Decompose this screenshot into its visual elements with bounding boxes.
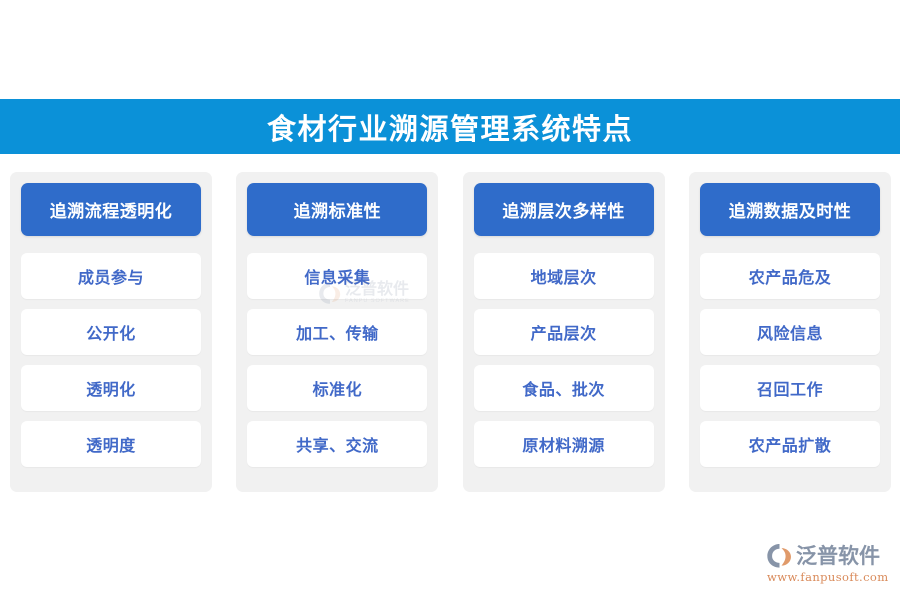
brand-url: www.fanpusoft.com xyxy=(767,570,889,584)
list-item[interactable]: 风险信息 xyxy=(700,309,880,355)
list-item[interactable]: 食品、批次 xyxy=(474,365,654,411)
fanpu-logo-icon xyxy=(766,542,793,569)
title-banner: 食材行业溯源管理系统特点 xyxy=(0,99,900,154)
column-header-2[interactable]: 追溯标准性 xyxy=(247,183,427,236)
column-traceability-standardization: 追溯标准性 信息采集 加工、传输 标准化 共享、交流 xyxy=(236,172,438,492)
item-label: 风险信息 xyxy=(757,320,823,344)
list-item[interactable]: 原材料溯源 xyxy=(474,421,654,467)
list-item[interactable]: 地域层次 xyxy=(474,253,654,299)
list-item[interactable]: 共享、交流 xyxy=(247,421,427,467)
item-label: 农产品危及 xyxy=(749,264,832,288)
page-title: 食材行业溯源管理系统特点 xyxy=(267,106,633,148)
list-item[interactable]: 公开化 xyxy=(21,309,201,355)
brand-logo-row: 泛普软件 xyxy=(766,541,880,569)
column-header-label-3: 追溯层次多样性 xyxy=(502,197,625,222)
brand-logo: 泛普软件 www.fanpusoft.com xyxy=(766,541,892,587)
item-label: 地域层次 xyxy=(531,264,597,288)
list-item[interactable]: 产品层次 xyxy=(474,309,654,355)
column-header-3[interactable]: 追溯层次多样性 xyxy=(474,183,654,236)
list-item[interactable]: 加工、传输 xyxy=(247,309,427,355)
item-label: 共享、交流 xyxy=(296,432,379,456)
column-header-1[interactable]: 追溯流程透明化 xyxy=(21,183,201,236)
item-label: 信息采集 xyxy=(304,264,370,288)
columns-container: 追溯流程透明化 成员参与 公开化 透明化 透明度 追溯标准性 信息采集 xyxy=(10,172,891,492)
column-traceability-process-transparency: 追溯流程透明化 成员参与 公开化 透明化 透明度 xyxy=(10,172,212,492)
column-header-label-1: 追溯流程透明化 xyxy=(50,197,173,222)
list-item[interactable]: 成员参与 xyxy=(21,253,201,299)
list-item[interactable]: 透明化 xyxy=(21,365,201,411)
list-item[interactable]: 信息采集 xyxy=(247,253,427,299)
item-label: 召回工作 xyxy=(757,376,823,400)
list-item[interactable]: 农产品危及 xyxy=(700,253,880,299)
column-header-label-2: 追溯标准性 xyxy=(294,197,382,222)
column-traceability-level-diversity: 追溯层次多样性 地域层次 产品层次 食品、批次 原材料溯源 xyxy=(463,172,665,492)
item-label: 加工、传输 xyxy=(296,320,379,344)
list-item[interactable]: 标准化 xyxy=(247,365,427,411)
item-label: 产品层次 xyxy=(531,320,597,344)
item-label: 标准化 xyxy=(313,376,363,400)
item-label: 透明化 xyxy=(86,376,136,400)
column-traceability-data-timeliness: 追溯数据及时性 农产品危及 风险信息 召回工作 农产品扩散 xyxy=(689,172,891,492)
list-item[interactable]: 召回工作 xyxy=(700,365,880,411)
item-label: 原材料溯源 xyxy=(522,432,605,456)
column-header-4[interactable]: 追溯数据及时性 xyxy=(700,183,880,236)
brand-name: 泛普软件 xyxy=(796,540,880,570)
item-label: 食品、批次 xyxy=(522,376,605,400)
item-label: 公开化 xyxy=(86,320,136,344)
item-label: 成员参与 xyxy=(78,264,144,288)
list-item[interactable]: 透明度 xyxy=(21,421,201,467)
list-item[interactable]: 农产品扩散 xyxy=(700,421,880,467)
infographic-page: 食材行业溯源管理系统特点 追溯流程透明化 成员参与 公开化 透明化 透明度 xyxy=(0,0,900,600)
column-header-label-4: 追溯数据及时性 xyxy=(729,197,852,222)
item-label: 透明度 xyxy=(86,432,136,456)
item-label: 农产品扩散 xyxy=(749,432,832,456)
